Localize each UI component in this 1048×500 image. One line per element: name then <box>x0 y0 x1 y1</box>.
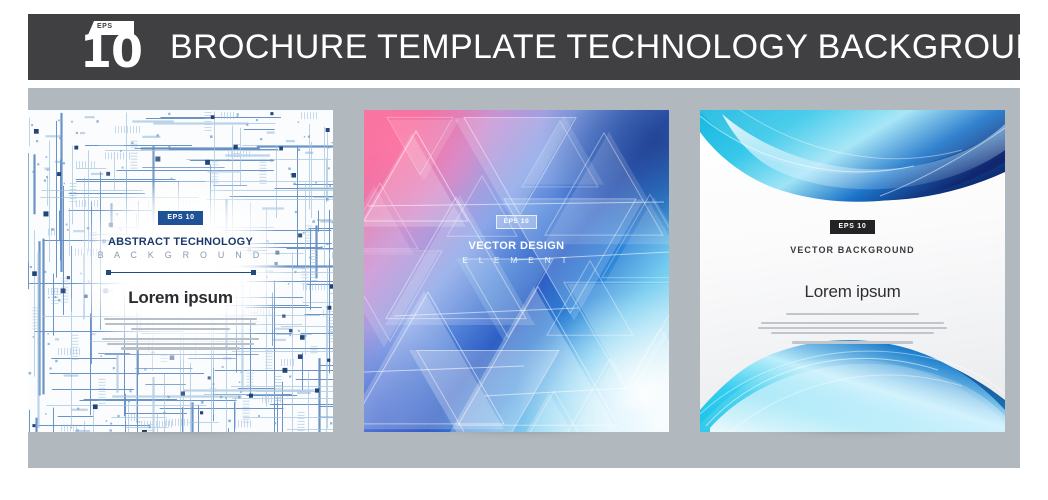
text-paragraph <box>758 322 948 334</box>
card1-divider <box>106 269 256 276</box>
brochure-card-triangles[interactable]: EPS 10 VECTOR DESIGN E L E M E N T <box>364 110 669 432</box>
text-line <box>792 341 914 343</box>
text-line <box>758 327 946 329</box>
text-line <box>107 343 254 345</box>
card2-content: EPS 10 VECTOR DESIGN E L E M E N T <box>364 210 669 265</box>
page-title: BROCHURE TEMPLATE TECHNOLOGY BACKGROUND <box>170 28 1048 67</box>
brochure-card-circuit[interactable]: EPS 10 ABSTRACT TECHNOLOGY B A C K G R O… <box>28 110 333 432</box>
header-bar: EPS 10 BROCHURE TEMPLATE TECHNOLOGY BACK… <box>28 14 1020 80</box>
card1-heading: ABSTRACT TECHNOLOGY <box>28 236 333 248</box>
eps10-logo: EPS 10 <box>80 21 142 73</box>
text-line <box>105 323 255 325</box>
card1-eps-badge: EPS 10 <box>158 211 202 225</box>
text-paragraph <box>758 341 948 343</box>
card1-subheading: B A C K G R O U N D <box>28 250 333 260</box>
text-line <box>104 318 258 320</box>
text-paragraph <box>101 318 261 330</box>
triangle-pattern-graphic <box>364 110 669 432</box>
card2-subheading: E L E M E N T <box>364 255 669 265</box>
card1-divider-dot-right <box>251 270 256 275</box>
eps-version-number: 10 <box>80 30 142 73</box>
card1-body-text: Lorem ipsum dolor sit amet consectetur a… <box>28 318 333 350</box>
card3-content: EPS 10 VECTOR BACKGROUND Lorem ipsum Lor… <box>700 215 1005 351</box>
text-line <box>771 332 934 334</box>
brochure-card-wave[interactable]: EPS 10 VECTOR BACKGROUND Lorem ipsum Lor… <box>700 110 1005 432</box>
poster-canvas: EPS 10 BROCHURE TEMPLATE TECHNOLOGY BACK… <box>0 0 1048 500</box>
text-line <box>131 328 230 330</box>
card1-content: EPS 10 ABSTRACT TECHNOLOGY B A C K G R O… <box>28 206 333 358</box>
text-paragraph <box>758 313 948 315</box>
card3-heading: VECTOR BACKGROUND <box>700 245 1005 255</box>
card3-eps-badge: EPS 10 <box>830 220 876 234</box>
card1-title: Lorem ipsum <box>28 288 333 308</box>
text-line <box>761 322 943 324</box>
text-line <box>102 338 259 340</box>
card2-heading: VECTOR DESIGN <box>364 240 669 252</box>
card3-body-text: Lorem ipsum dolor sit amet consectetur a… <box>700 313 1005 344</box>
text-line <box>786 313 919 315</box>
card2-eps-badge: EPS 10 <box>496 215 538 229</box>
text-line <box>121 347 239 349</box>
card1-divider-line <box>110 272 252 273</box>
card3-title: Lorem ipsum <box>700 282 1005 302</box>
text-paragraph <box>101 338 261 350</box>
